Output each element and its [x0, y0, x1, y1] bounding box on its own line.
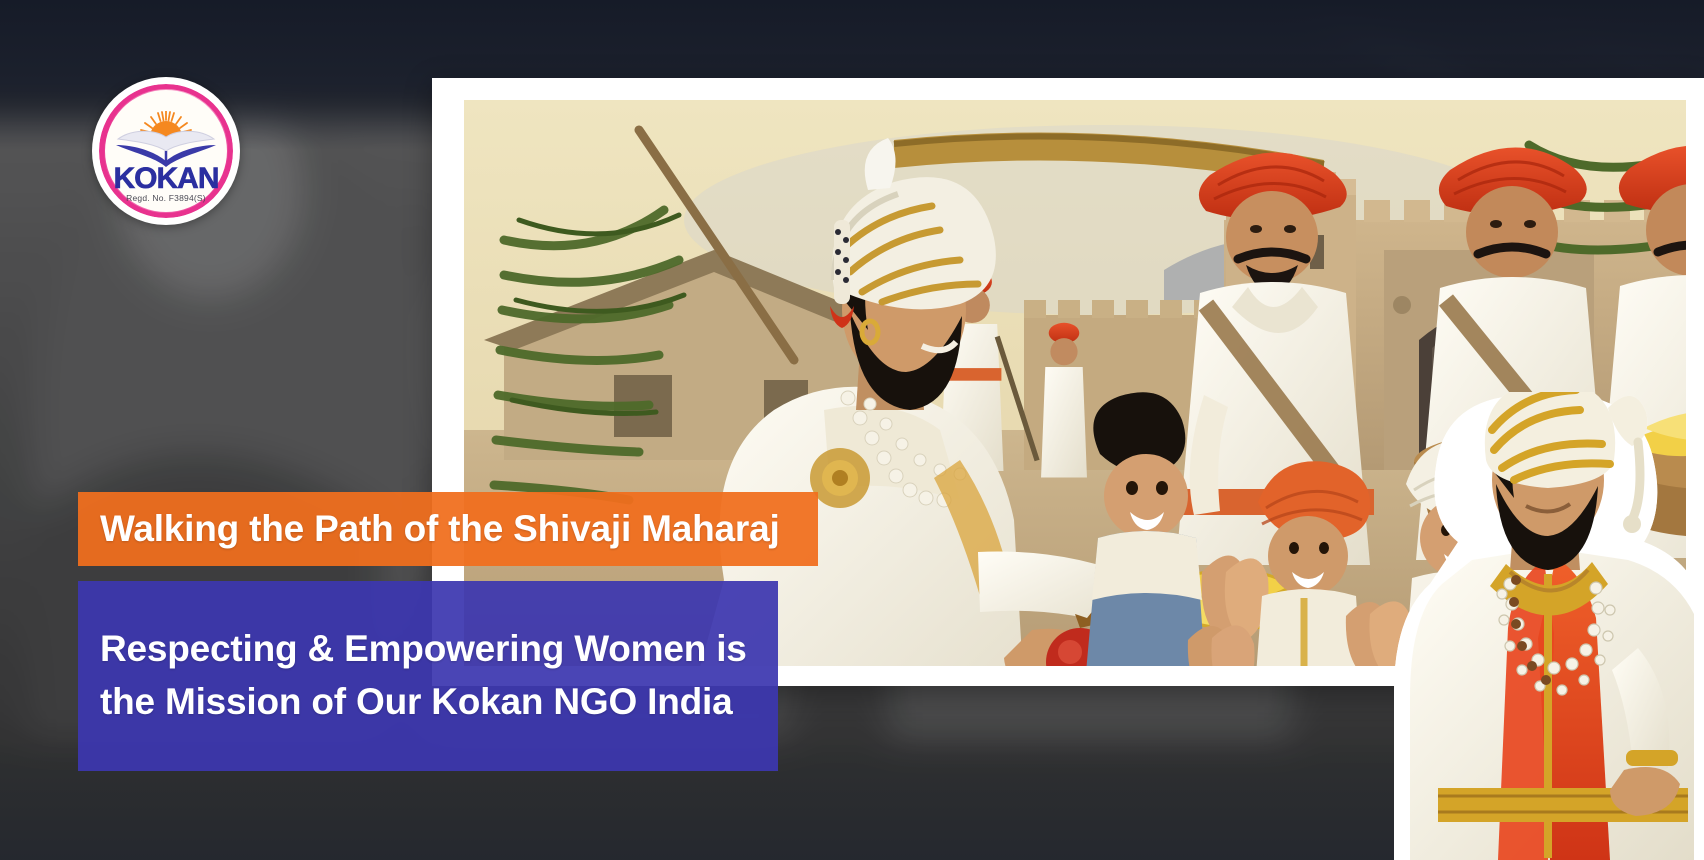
logo-inner-disc: KOKAN Regd. No. F3894(S) — [105, 90, 227, 212]
shivaji-maharaj-standing-cutout — [1392, 392, 1704, 860]
headline-blue-line1: Respecting & Empowering Women is — [100, 623, 747, 676]
ngo-promo-banner: KOKAN Regd. No. F3894(S) — [0, 0, 1704, 860]
logo-wordmark: KOKAN — [105, 164, 227, 194]
shivaji-cutout-artwork — [1392, 392, 1704, 860]
headline-orange-band: Walking the Path of the Shivaji Maharaj — [78, 492, 818, 566]
headline-blue-band: Respecting & Empowering Women is the Mis… — [78, 581, 778, 771]
headline-blue-line2: the Mission of Our Kokan NGO India — [100, 676, 733, 729]
headline-orange-text: Walking the Path of the Shivaji Maharaj — [100, 508, 780, 550]
logo-registration-number: Regd. No. F3894(S) — [105, 193, 227, 203]
kokan-ngo-logo[interactable]: KOKAN Regd. No. F3894(S) — [92, 77, 240, 225]
